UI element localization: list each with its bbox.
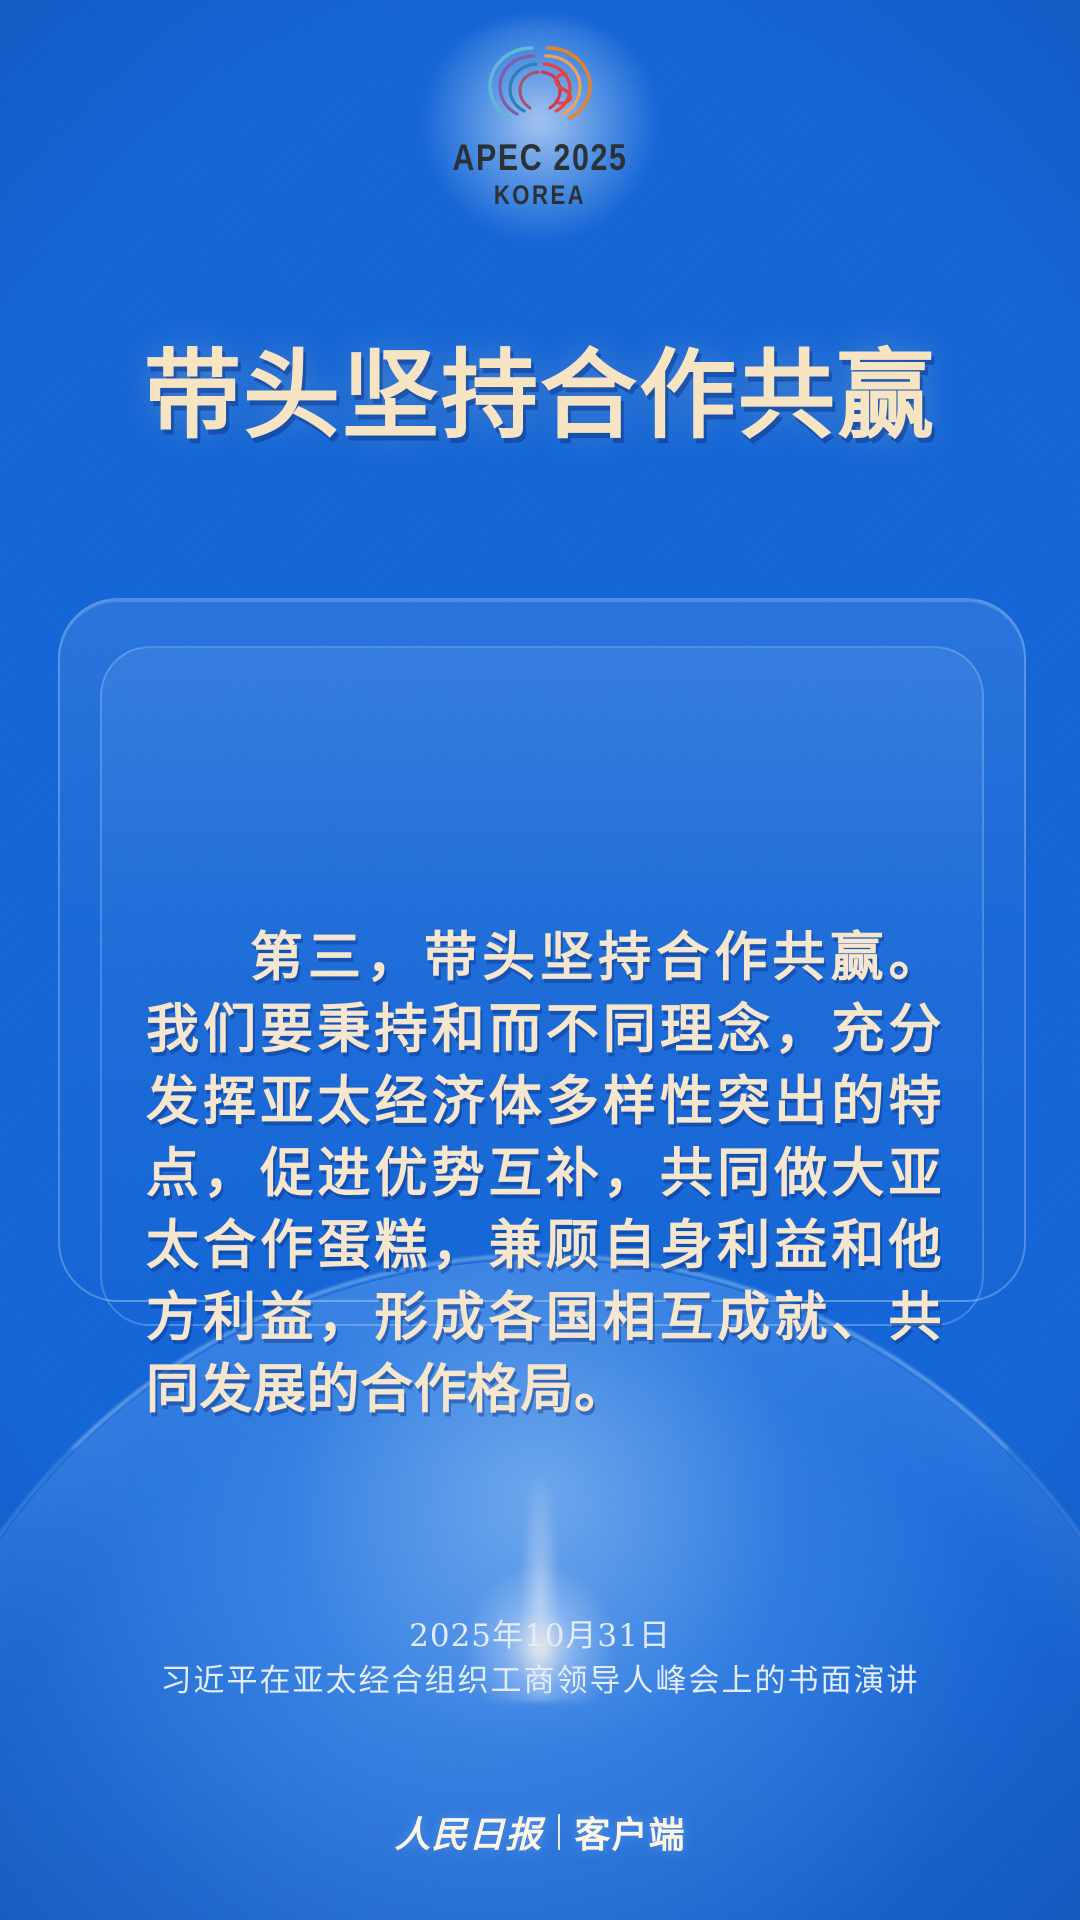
brand-divider xyxy=(558,1814,560,1850)
brand-app-label: 客户端 xyxy=(575,1806,686,1858)
attribution: 2025年10月31日 习近平在亚太经合组织工商领导人峰会上的书面演讲 xyxy=(0,1614,1080,1704)
publisher-brand: 人民日报 客户端 xyxy=(0,1806,1080,1858)
quote-body-text: 第三，带头坚持合作共赢。我们要秉持和而不同理念，充分发挥亚太经济体多样性突出的特… xyxy=(146,922,942,1426)
attribution-source: 习近平在亚太经合组织工商领导人峰会上的书面演讲 xyxy=(0,1658,1080,1704)
apec-wordmark: APEC 2025 xyxy=(417,138,663,178)
apec-emblem-icon xyxy=(450,34,630,134)
attribution-date: 2025年10月31日 xyxy=(0,1614,1080,1658)
apec-logo: APEC 2025 KOREA xyxy=(390,34,690,210)
brand-name-peoples-daily: 人民日报 xyxy=(394,1806,542,1858)
page-title: 带头坚持合作共赢 xyxy=(0,336,1080,456)
poster-canvas: APEC 2025 KOREA 带头坚持合作共赢 第三，带头坚持合作共赢。我们要… xyxy=(0,0,1080,1920)
apec-host-country: KOREA xyxy=(417,180,663,210)
